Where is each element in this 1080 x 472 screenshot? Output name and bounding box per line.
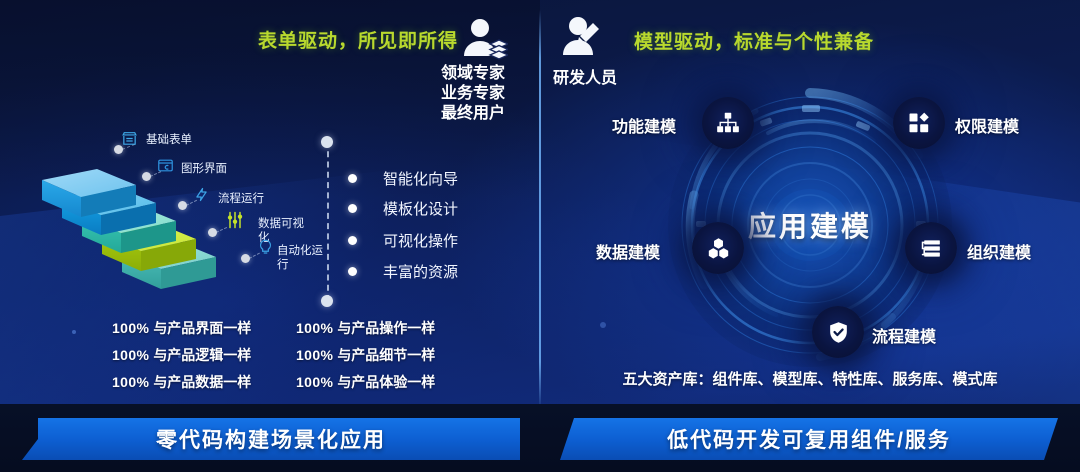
step-label: 自动化运行 <box>277 244 329 272</box>
bullet-label: 模板化设计 <box>383 198 458 219</box>
bullet-dot-icon <box>348 204 357 213</box>
percent-claim: 100% 与产品逻辑一样 <box>112 345 290 365</box>
node-label-function-modeling: 功能建模 <box>612 113 676 137</box>
spark-dot <box>72 330 76 334</box>
node-label-permission-modeling: 权限建模 <box>955 113 1019 137</box>
node-process-modeling[interactable] <box>812 306 864 358</box>
node-function-modeling[interactable] <box>702 97 754 149</box>
percent-value: 100% <box>112 347 149 363</box>
spark-dot <box>600 322 606 328</box>
percent-text: 与产品界面一样 <box>153 320 251 336</box>
bullet-dot-icon <box>348 267 357 276</box>
feature-bullet: 智能化向导 <box>348 168 458 189</box>
grid-diamond-icon <box>907 111 931 135</box>
flow-run-icon <box>193 186 210 203</box>
bullet-label: 丰富的资源 <box>383 261 458 282</box>
user-layers-icon <box>460 16 508 64</box>
asset-library-line: 五大资产库：组件库、模型库、特性库、服务库、模式库 <box>0 368 1080 389</box>
right-panel-title: 模型驱动，标准与个性兼备 <box>634 27 874 54</box>
user-pencil-icon <box>560 14 606 62</box>
bulb-auto-icon <box>257 238 274 256</box>
left-persona-roles: 领域专家 业务专家 最终用户 <box>441 64 561 124</box>
bullet-dot-icon <box>348 236 357 245</box>
bottom-bar: 零代码构建场景化应用 低代码开发可复用组件/服务 <box>0 404 1080 472</box>
banner-zero-code[interactable]: 零代码构建场景化应用 <box>22 418 520 460</box>
bullet-label: 可视化操作 <box>383 230 458 251</box>
window-ui-icon <box>157 157 174 174</box>
data-chart-icon <box>225 210 245 230</box>
percent-value: 100% <box>296 320 333 336</box>
banner-right-label: 低代码开发可复用组件/服务 <box>667 424 951 454</box>
feature-bullet: 模板化设计 <box>348 198 458 219</box>
banner-left-label: 零代码构建场景化应用 <box>156 424 386 454</box>
feature-bullet: 丰富的资源 <box>348 261 458 282</box>
node-label-data-modeling: 数据建模 <box>596 239 660 263</box>
shield-check-icon <box>826 320 851 345</box>
persona-role: 业务专家 <box>441 84 561 104</box>
step-label: 流程运行 <box>218 192 264 206</box>
bars-stack-icon <box>919 236 944 261</box>
sitemap-icon <box>715 110 741 136</box>
infographic-canvas: 表单驱动，所见即所得 领域专家 业务专家 最终用户 <box>0 0 1080 472</box>
step-label: 基础表单 <box>146 133 192 147</box>
right-role-label: 研发人员 <box>553 64 617 88</box>
percent-claim: 100% 与产品操作一样 <box>296 318 474 338</box>
left-panel-title: 表单驱动，所见即所得 <box>258 26 458 53</box>
bullet-label: 智能化向导 <box>383 168 458 189</box>
feature-bullet: 可视化操作 <box>348 230 458 251</box>
store-form-icon <box>121 130 138 147</box>
node-organization-modeling[interactable] <box>905 222 957 274</box>
node-label-process-modeling: 流程建模 <box>872 323 936 347</box>
rail-cap-bottom <box>321 295 333 307</box>
percent-claim: 100% 与产品界面一样 <box>112 318 290 338</box>
bullet-dot-icon <box>348 174 357 183</box>
dashed-rail <box>327 141 329 301</box>
persona-role: 领域专家 <box>441 64 561 84</box>
node-label-organization-modeling: 组织建模 <box>967 239 1031 263</box>
rail-cap-top <box>321 136 333 148</box>
percent-value: 100% <box>296 347 333 363</box>
asset-library-text: 五大资产库：组件库、模型库、特性库、服务库、模式库 <box>82 368 997 389</box>
percent-text: 与产品操作一样 <box>337 320 435 336</box>
node-data-modeling[interactable] <box>692 222 744 274</box>
percent-value: 100% <box>112 320 149 336</box>
percent-claim: 100% 与产品细节一样 <box>296 345 474 365</box>
node-permission-modeling[interactable] <box>893 97 945 149</box>
percent-text: 与产品细节一样 <box>337 347 435 363</box>
persona-role: 最终用户 <box>441 104 561 124</box>
step-label: 图形界面 <box>181 162 227 176</box>
percent-text: 与产品逻辑一样 <box>153 347 251 363</box>
hexagons-icon <box>706 236 731 261</box>
banner-low-code[interactable]: 低代码开发可复用组件/服务 <box>560 418 1058 460</box>
